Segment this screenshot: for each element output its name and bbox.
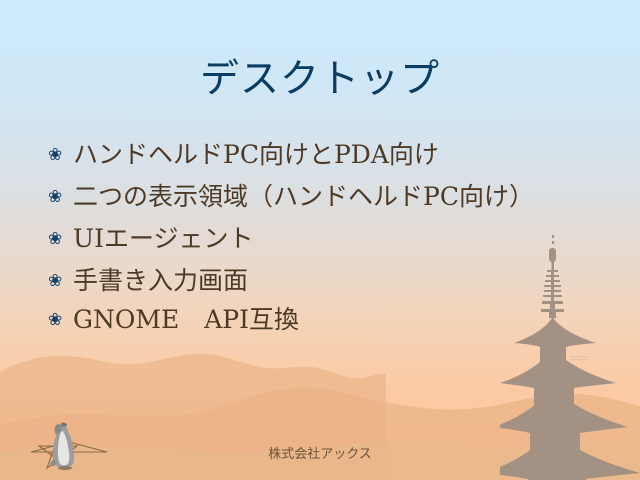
flower-bullet-icon: ❀ [48, 312, 73, 329]
list-item: ❀ GNOME API互換 [48, 305, 608, 344]
presentation-slide: デスクトップ ❀ ハンドヘルドPC向けとPDA向け ❀ 二つの表示領域（ハンドヘ… [0, 0, 640, 480]
bullet-list: ❀ ハンドヘルドPC向けとPDA向け ❀ 二つの表示領域（ハンドヘルドPC向け）… [48, 140, 608, 344]
list-item-label: UIエージェント [73, 224, 253, 254]
flower-bullet-icon: ❀ [48, 231, 73, 248]
slide-title: デスクトップ [0, 58, 640, 102]
footer-company-name: 株式会社アックス [0, 443, 640, 462]
list-item-label: 手書き入力画面 [73, 266, 248, 296]
flower-bullet-icon: ❀ [48, 147, 73, 164]
list-item: ❀ ハンドヘルドPC向けとPDA向け [48, 140, 608, 182]
flower-bullet-icon: ❀ [48, 273, 73, 290]
list-item-label: GNOME API互換 [73, 305, 299, 335]
list-item: ❀ UIエージェント [48, 224, 608, 266]
list-item: ❀ 手書き入力画面 [48, 266, 608, 305]
list-item: ❀ 二つの表示領域（ハンドヘルドPC向け） [48, 182, 608, 224]
list-item-label: 二つの表示領域（ハンドヘルドPC向け） [73, 182, 534, 212]
list-item-label: ハンドヘルドPC向けとPDA向け [73, 140, 439, 170]
flower-bullet-icon: ❀ [48, 189, 73, 206]
